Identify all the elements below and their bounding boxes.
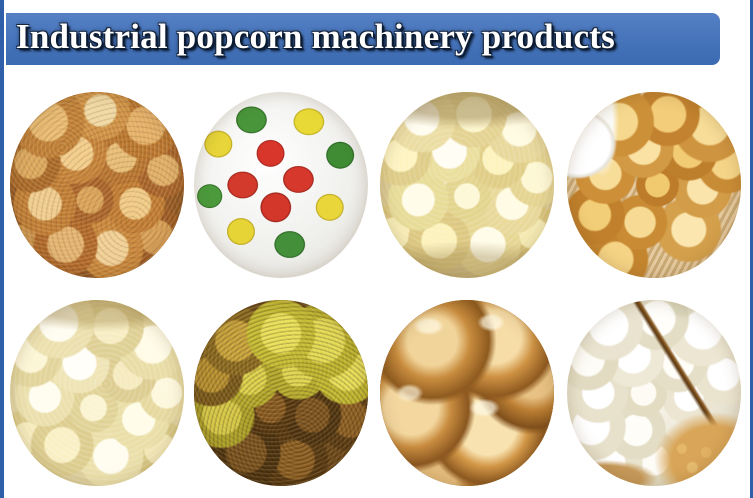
- product-photo[interactable]: [567, 92, 741, 278]
- product-photo[interactable]: [194, 300, 368, 486]
- gallery-row-bottom: [4, 298, 753, 496]
- product-photo[interactable]: [10, 300, 184, 486]
- photo-texture: [567, 300, 741, 486]
- banner: Industrial popcorn machinery products: [6, 13, 720, 65]
- gallery-item-glossy-caramel-popcorn[interactable]: [380, 298, 556, 496]
- product-photo[interactable]: [567, 300, 741, 486]
- product-photo[interactable]: [194, 92, 368, 278]
- gallery-item-caramel-popcorn[interactable]: [10, 90, 186, 288]
- gallery-row-top: [4, 90, 753, 288]
- photo-texture: [10, 92, 184, 278]
- gallery-item-butter-popcorn[interactable]: [380, 90, 556, 288]
- photo-texture: [380, 92, 554, 278]
- gallery-item-golden-caramel-popcorn[interactable]: [567, 90, 743, 288]
- photo-texture: [194, 300, 368, 486]
- page-title: Industrial popcorn machinery products: [16, 12, 716, 64]
- gallery-item-cream-popcorn[interactable]: [10, 298, 186, 496]
- product-photo[interactable]: [10, 92, 184, 278]
- photo-texture: [194, 92, 368, 278]
- photo-texture: [380, 300, 554, 486]
- gallery-item-white-popcorn-with-kernels[interactable]: [567, 298, 743, 496]
- photo-texture: [10, 300, 184, 486]
- product-photo[interactable]: [380, 92, 554, 278]
- product-gallery-page: Industrial popcorn machinery products: [0, 0, 753, 498]
- photo-texture: [567, 92, 741, 278]
- gallery-item-mixed-popcorn[interactable]: [194, 298, 370, 496]
- gallery-item-colored-candy-popcorn[interactable]: [194, 90, 370, 288]
- product-photo[interactable]: [380, 300, 554, 486]
